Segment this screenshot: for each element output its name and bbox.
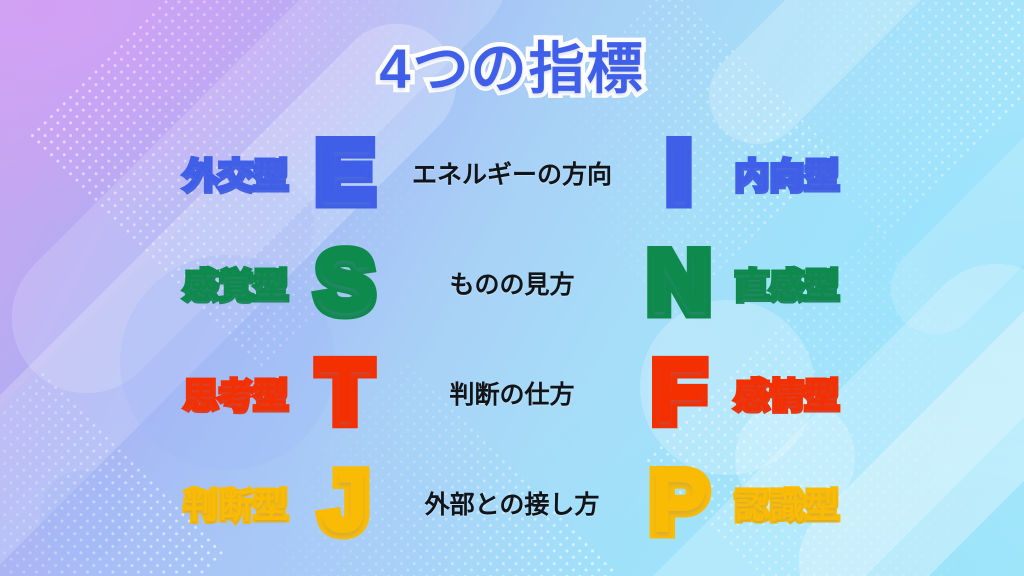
left-label-cell: 感覚型: [128, 259, 303, 308]
indicator-row: 判断型 J 外部との接し方 P 認識型: [0, 448, 1024, 558]
right-type-label: 認識型: [735, 479, 840, 528]
dimension-label: ものの見方: [449, 265, 574, 301]
slide-canvas: 4つの指標 外交型 E エネルギーの方向 I 内向型 感覚型: [0, 0, 1024, 576]
dimension-label: 外部との接し方: [425, 485, 600, 521]
left-type-letter: T: [319, 350, 372, 436]
left-type-letter: J: [321, 460, 369, 546]
right-letter-cell: N: [637, 240, 721, 326]
right-letter-cell: P: [637, 460, 721, 546]
left-type-letter: S: [316, 240, 373, 326]
left-label-cell: 思考型: [128, 369, 303, 418]
right-type-letter: P: [650, 460, 707, 546]
left-type-letter: E: [316, 130, 373, 216]
right-letter-cell: I: [637, 130, 721, 216]
indicator-list: 外交型 E エネルギーの方向 I 内向型 感覚型 S ものの: [0, 118, 1024, 558]
left-type-label: 判断型: [184, 479, 289, 528]
right-letter-cell: F: [637, 350, 721, 436]
page-title: 4つの指標: [0, 24, 1024, 105]
indicator-row: 思考型 T 判断の仕方 F 感情型: [0, 338, 1024, 448]
indicator-row: 感覚型 S ものの見方 N 直感型: [0, 228, 1024, 338]
indicator-row: 外交型 E エネルギーの方向 I 内向型: [0, 118, 1024, 228]
dimension-label: 判断の仕方: [449, 375, 574, 411]
right-label-cell: 内向型: [721, 149, 896, 198]
left-letter-cell: S: [303, 240, 387, 326]
dimension-label-cell: エネルギーの方向: [387, 155, 637, 191]
right-label-cell: 認識型: [721, 479, 896, 528]
right-label-cell: 感情型: [721, 369, 896, 418]
dimension-label: エネルギーの方向: [412, 155, 612, 191]
dimension-label-cell: ものの見方: [387, 265, 637, 301]
right-type-letter: I: [667, 130, 691, 216]
right-type-label: 感情型: [735, 369, 840, 418]
left-type-label: 思考型: [184, 369, 289, 418]
left-letter-cell: E: [303, 130, 387, 216]
right-type-label: 直感型: [735, 259, 840, 308]
right-type-label: 内向型: [735, 149, 840, 198]
right-label-cell: 直感型: [721, 259, 896, 308]
left-label-cell: 外交型: [128, 149, 303, 198]
left-label-cell: 判断型: [128, 479, 303, 528]
right-type-letter: F: [653, 350, 706, 436]
dimension-label-cell: 外部との接し方: [387, 485, 637, 521]
right-type-letter: N: [648, 240, 710, 326]
left-type-label: 感覚型: [184, 259, 289, 308]
dimension-label-cell: 判断の仕方: [387, 375, 637, 411]
left-letter-cell: T: [303, 350, 387, 436]
left-type-label: 外交型: [184, 149, 289, 198]
left-letter-cell: J: [303, 460, 387, 546]
